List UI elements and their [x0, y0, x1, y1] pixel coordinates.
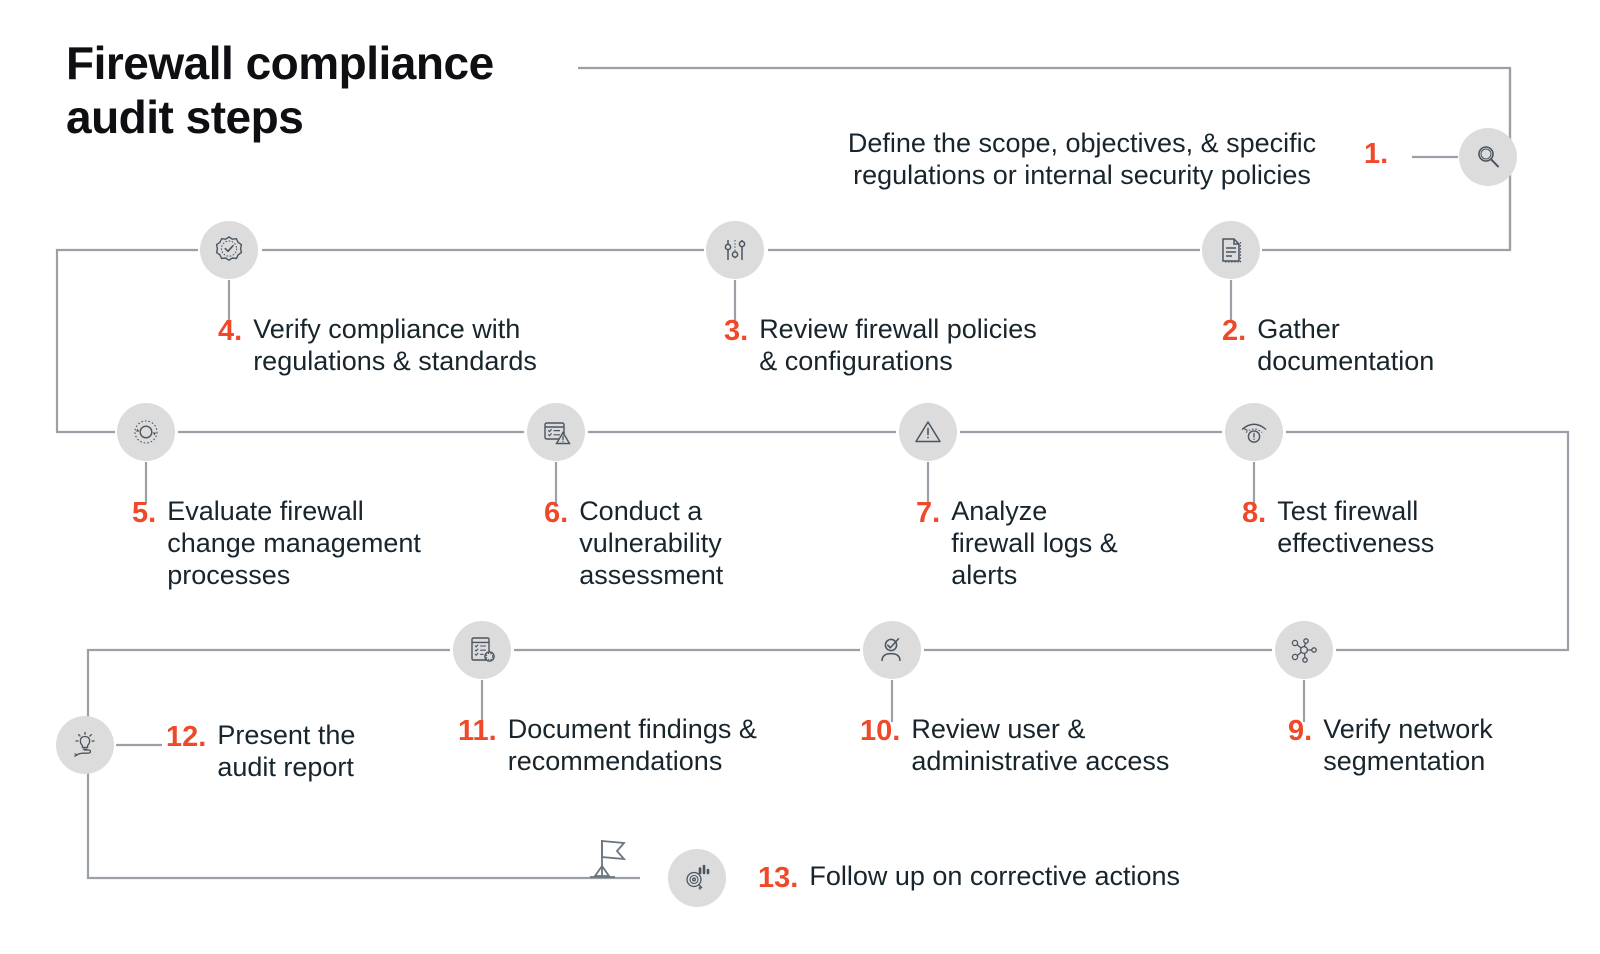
step-node-10[interactable]	[863, 621, 921, 679]
step-text-2: Gather documentation	[1257, 314, 1434, 378]
warning-triangle-icon	[913, 417, 943, 447]
step-text-5: Evaluate firewall change management proc…	[167, 496, 421, 592]
step-label-3: 3. Review firewall policies & configurat…	[724, 314, 1037, 378]
step-text-13: Follow up on corrective actions	[809, 861, 1180, 893]
verified-badge-icon	[213, 234, 245, 266]
step-node-4[interactable]	[200, 221, 258, 279]
hand-lightbulb-icon	[69, 729, 101, 761]
step-number-8: 8.	[1242, 496, 1266, 530]
step-number-6: 6.	[544, 496, 568, 530]
step-node-7[interactable]	[899, 403, 957, 461]
cycle-arrows-icon	[130, 416, 162, 448]
step-label-7: 7. Analyze firewall logs & alerts	[916, 496, 1118, 592]
page-title: Firewall compliance audit steps	[66, 36, 586, 145]
step-label-11: 11. Document findings & recommendations	[458, 714, 757, 778]
step-label-9: 9. Verify network segmentation	[1288, 714, 1493, 778]
infographic-canvas: Firewall compliance audit steps	[0, 0, 1600, 954]
step-label-13: 13. Follow up on corrective actions	[758, 861, 1180, 895]
step-node-13[interactable]	[668, 849, 726, 907]
step-number-12: 12.	[166, 720, 206, 754]
step-label-4: 4. Verify compliance with regulations & …	[218, 314, 537, 378]
step-text-6: Conduct a vulnerability assessment	[579, 496, 723, 592]
step-number-2: 2.	[1222, 314, 1246, 348]
step-number-3: 3.	[724, 314, 748, 348]
step-text-7: Analyze firewall logs & alerts	[951, 496, 1118, 592]
step-text-10: Review user & administrative access	[911, 714, 1169, 778]
magnifier-icon	[1473, 142, 1503, 172]
step-label-10: 10. Review user & administrative access	[860, 714, 1169, 778]
flag-icon	[584, 832, 630, 880]
step-label-2: 2. Gather documentation	[1222, 314, 1434, 378]
step-number-5: 5.	[132, 496, 156, 530]
step-number-9: 9.	[1288, 714, 1312, 748]
step-number-1: 1.	[1364, 138, 1388, 171]
step-node-8[interactable]	[1225, 403, 1283, 461]
gauge-alert-icon	[1238, 416, 1270, 448]
sliders-icon	[720, 235, 750, 265]
document-icon	[1216, 235, 1246, 265]
step-text-4: Verify compliance with regulations & sta…	[253, 314, 537, 378]
step-text-8: Test firewall effectiveness	[1277, 496, 1434, 560]
target-chart-icon	[681, 862, 713, 894]
step-number-13: 13.	[758, 861, 798, 895]
report-seal-icon	[466, 634, 498, 666]
step-number-4: 4.	[218, 314, 242, 348]
step-number-11: 11.	[458, 714, 497, 748]
step-label-8: 8. Test firewall effectiveness	[1242, 496, 1434, 560]
step-text-1: Define the scope, objectives, & specific…	[830, 128, 1334, 192]
network-nodes-icon	[1288, 634, 1320, 666]
step-node-2[interactable]	[1202, 221, 1260, 279]
step-node-1[interactable]	[1459, 128, 1517, 186]
wire-row2-to-row3	[57, 250, 198, 432]
checklist-warning-icon	[540, 416, 572, 448]
step-node-9[interactable]	[1275, 621, 1333, 679]
step-text-3: Review firewall policies & configuration…	[759, 314, 1037, 378]
step-number-7: 7.	[916, 496, 940, 530]
step-node-5[interactable]	[117, 403, 175, 461]
step-label-6: 6. Conduct a vulnerability assessment	[544, 496, 723, 592]
step-label-12: 12. Present the audit report	[166, 720, 355, 784]
user-check-icon	[877, 635, 907, 665]
step-text-11: Document findings & recommendations	[508, 714, 757, 778]
step-label-1: Define the scope, objectives, & specific…	[830, 128, 1334, 192]
step-node-12[interactable]	[56, 716, 114, 774]
step-node-11[interactable]	[453, 621, 511, 679]
step-node-6[interactable]	[527, 403, 585, 461]
step-number-10: 10.	[860, 714, 900, 748]
step-node-3[interactable]	[706, 221, 764, 279]
step-text-12: Present the audit report	[217, 720, 355, 784]
step-text-9: Verify network segmentation	[1323, 714, 1493, 778]
step-label-5: 5. Evaluate firewall change management p…	[132, 496, 421, 592]
